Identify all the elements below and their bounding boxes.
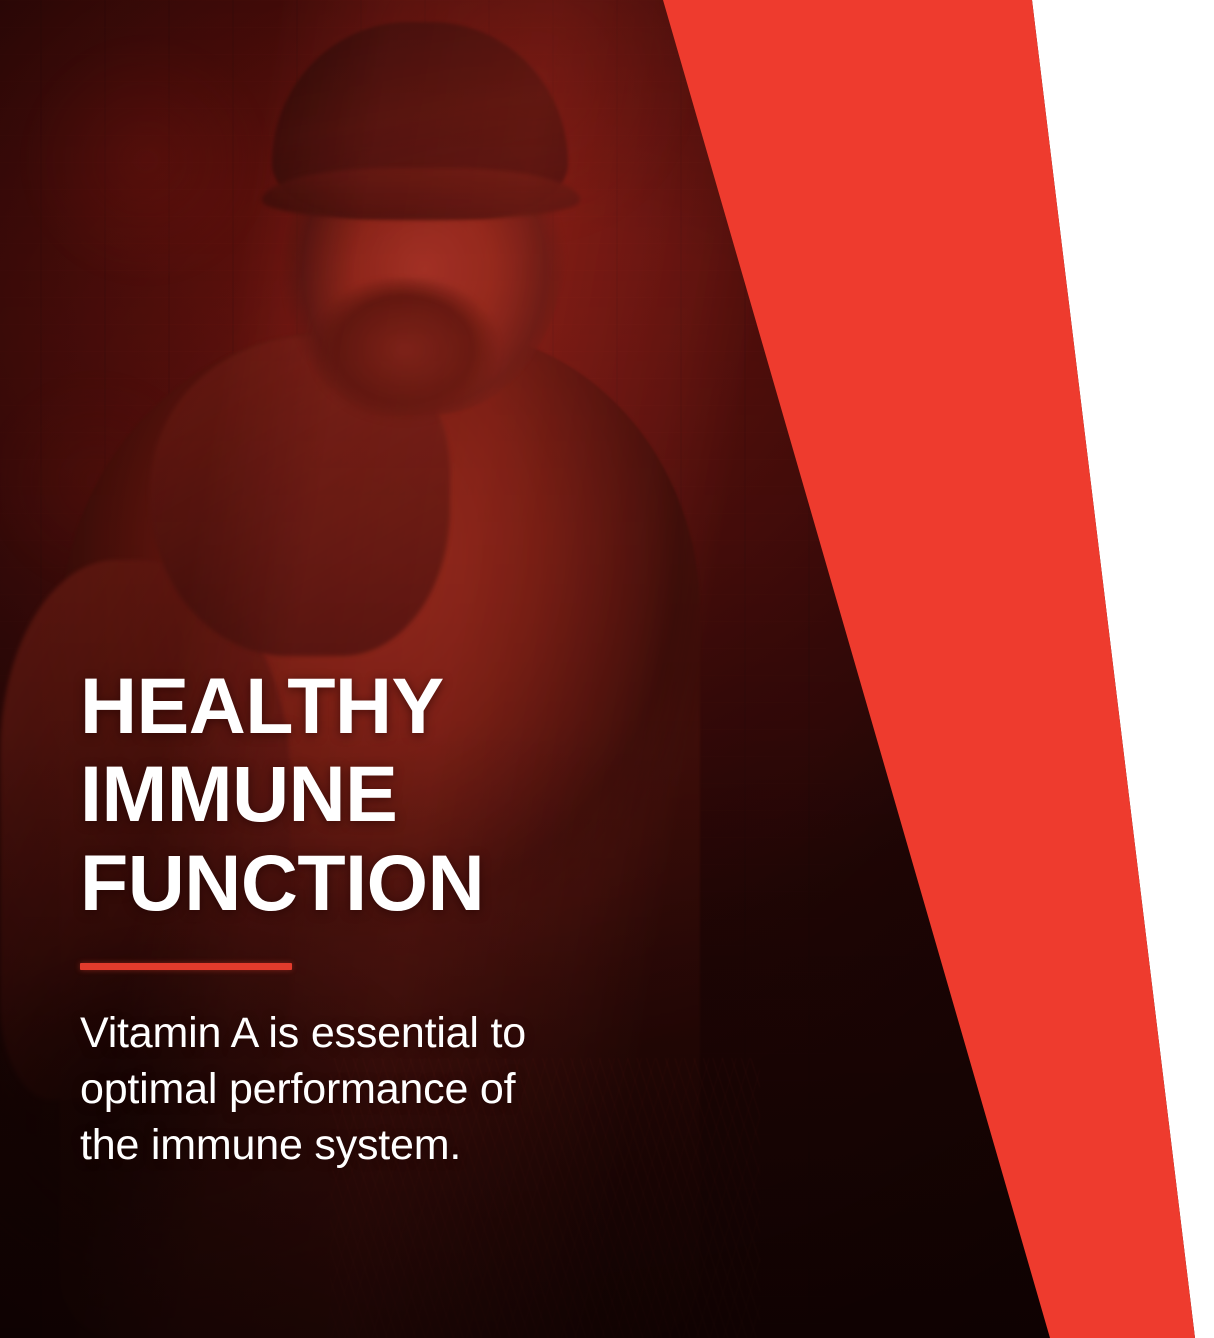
accent-divider-bar xyxy=(80,963,292,970)
headline-line-1: HEALTHY xyxy=(80,662,640,750)
body-line-3: the immune system. xyxy=(80,1118,640,1174)
promo-banner: HEALTHY IMMUNE FUNCTION Vitamin A is ess… xyxy=(0,0,1214,1338)
text-content-block: HEALTHY IMMUNE FUNCTION Vitamin A is ess… xyxy=(80,662,640,1174)
body-line-1: Vitamin A is essential to xyxy=(80,1006,640,1062)
headline-line-2: IMMUNE xyxy=(80,750,640,838)
page-title: HEALTHY IMMUNE FUNCTION xyxy=(80,662,640,927)
body-copy: Vitamin A is essential to optimal perfor… xyxy=(80,1006,640,1174)
headline-line-3: FUNCTION xyxy=(80,839,640,927)
body-line-2: optimal performance of xyxy=(80,1062,640,1118)
